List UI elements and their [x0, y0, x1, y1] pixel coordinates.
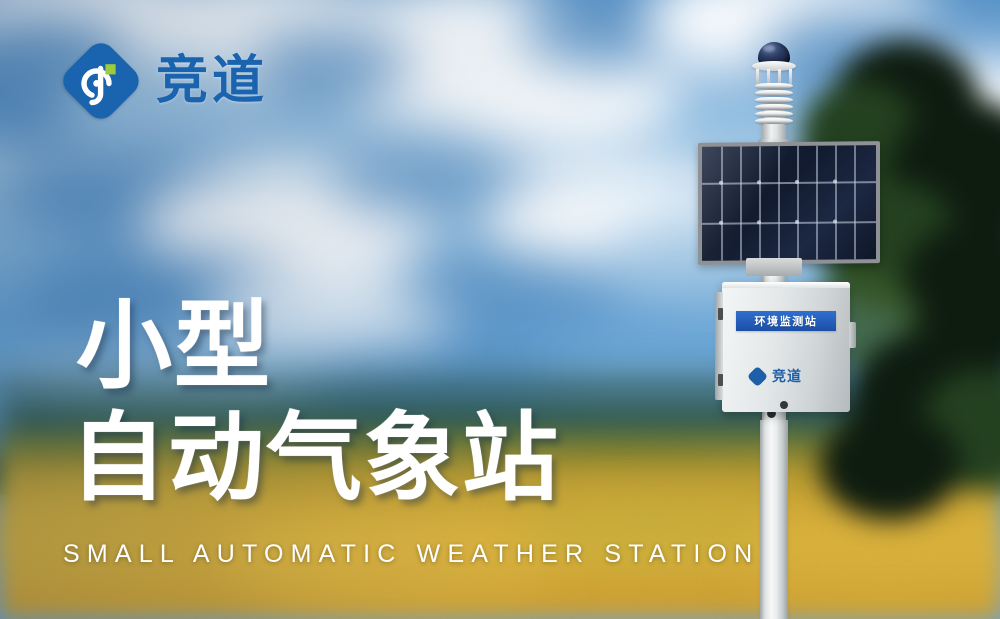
jingdao-diamond-logo — [62, 42, 140, 120]
weather-station-product: 环境监测站 竞道 — [660, 0, 920, 619]
brand-logo[interactable]: 竞道 — [62, 42, 268, 120]
control-box-banner: 环境监测站 — [736, 311, 836, 331]
control-box-hinge-bottom — [718, 374, 723, 386]
panel-mount-bracket — [746, 258, 802, 276]
control-box-right-flap — [849, 322, 856, 348]
control-box-hinge-top — [718, 308, 723, 320]
control-box: 环境监测站 竞道 — [722, 282, 850, 412]
mounting-pole-lower — [760, 420, 788, 619]
control-box-logo: 竞道 — [748, 366, 802, 386]
radiation-shield-louvers — [755, 83, 793, 125]
brand-logo-text: 竞道 — [156, 55, 268, 107]
control-box-top-edge — [722, 282, 850, 288]
solar-cell-grid — [702, 145, 876, 261]
control-box-banner-label: 环境监测站 — [755, 313, 818, 329]
solar-panel — [698, 141, 880, 265]
headline-block: 小型 自动气象站 — [70, 298, 560, 508]
ultrasonic-weather-sensor — [744, 42, 804, 152]
control-box-latch-icon — [780, 401, 788, 409]
jingdao-diamond-logo-small — [748, 367, 767, 386]
control-box-logo-text: 竞道 — [772, 366, 802, 386]
headline-line-1: 小型 — [76, 298, 560, 396]
headline-line-2: 自动气象站 — [70, 410, 560, 508]
subtitle-text: SMALL AUTOMATIC WEATHER STATION — [63, 540, 759, 569]
product-banner: 环境监测站 竞道 — [0, 0, 1000, 619]
